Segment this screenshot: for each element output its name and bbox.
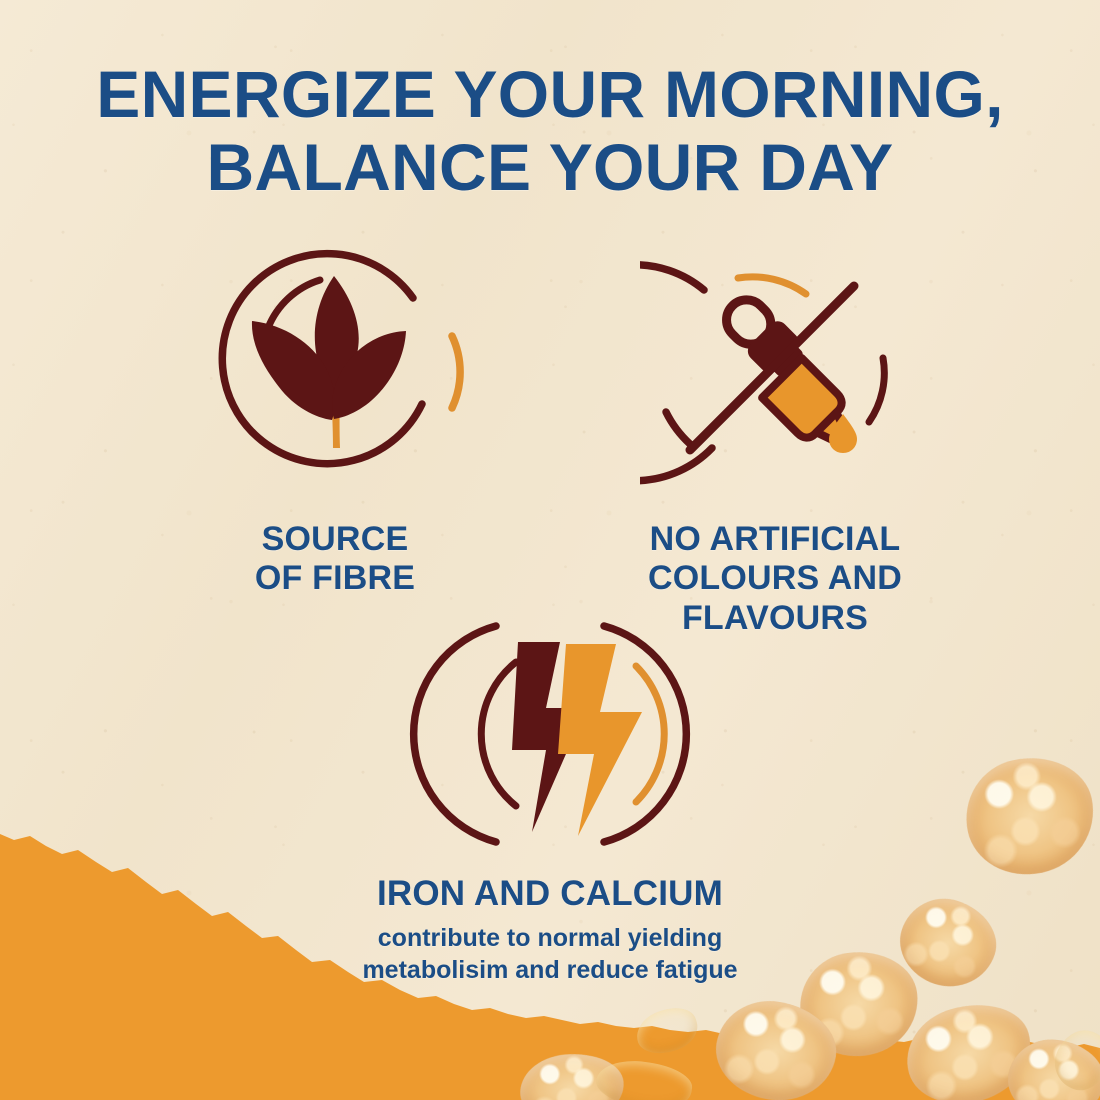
feature-no-artificial-colours-and-flavours: NO ARTIFICIAL COLOURS AND FLAVOURS — [580, 236, 970, 638]
headline-line-1: ENERGIZE YOUR MORNING, — [0, 58, 1100, 131]
caption-line-2: OF FIBRE — [140, 559, 530, 598]
caption-line-1: SOURCE — [140, 520, 530, 559]
headline-line-2: BALANCE YOUR DAY — [0, 131, 1100, 204]
page-title: ENERGIZE YOUR MORNING, BALANCE YOUR DAY — [0, 58, 1100, 203]
poster-canvas: ENERGIZE YOUR MORNING, BALANCE YOUR DAY — [0, 0, 1100, 1100]
caption-line-1: NO ARTIFICIAL — [580, 520, 970, 559]
caption-line-2: COLOURS AND — [580, 559, 970, 598]
plant-leaves-icon — [200, 236, 470, 506]
no-dropper-icon — [640, 236, 910, 506]
feature-caption: SOURCE OF FIBRE — [140, 520, 530, 599]
feature-source-of-fibre: SOURCE OF FIBRE — [140, 236, 530, 599]
